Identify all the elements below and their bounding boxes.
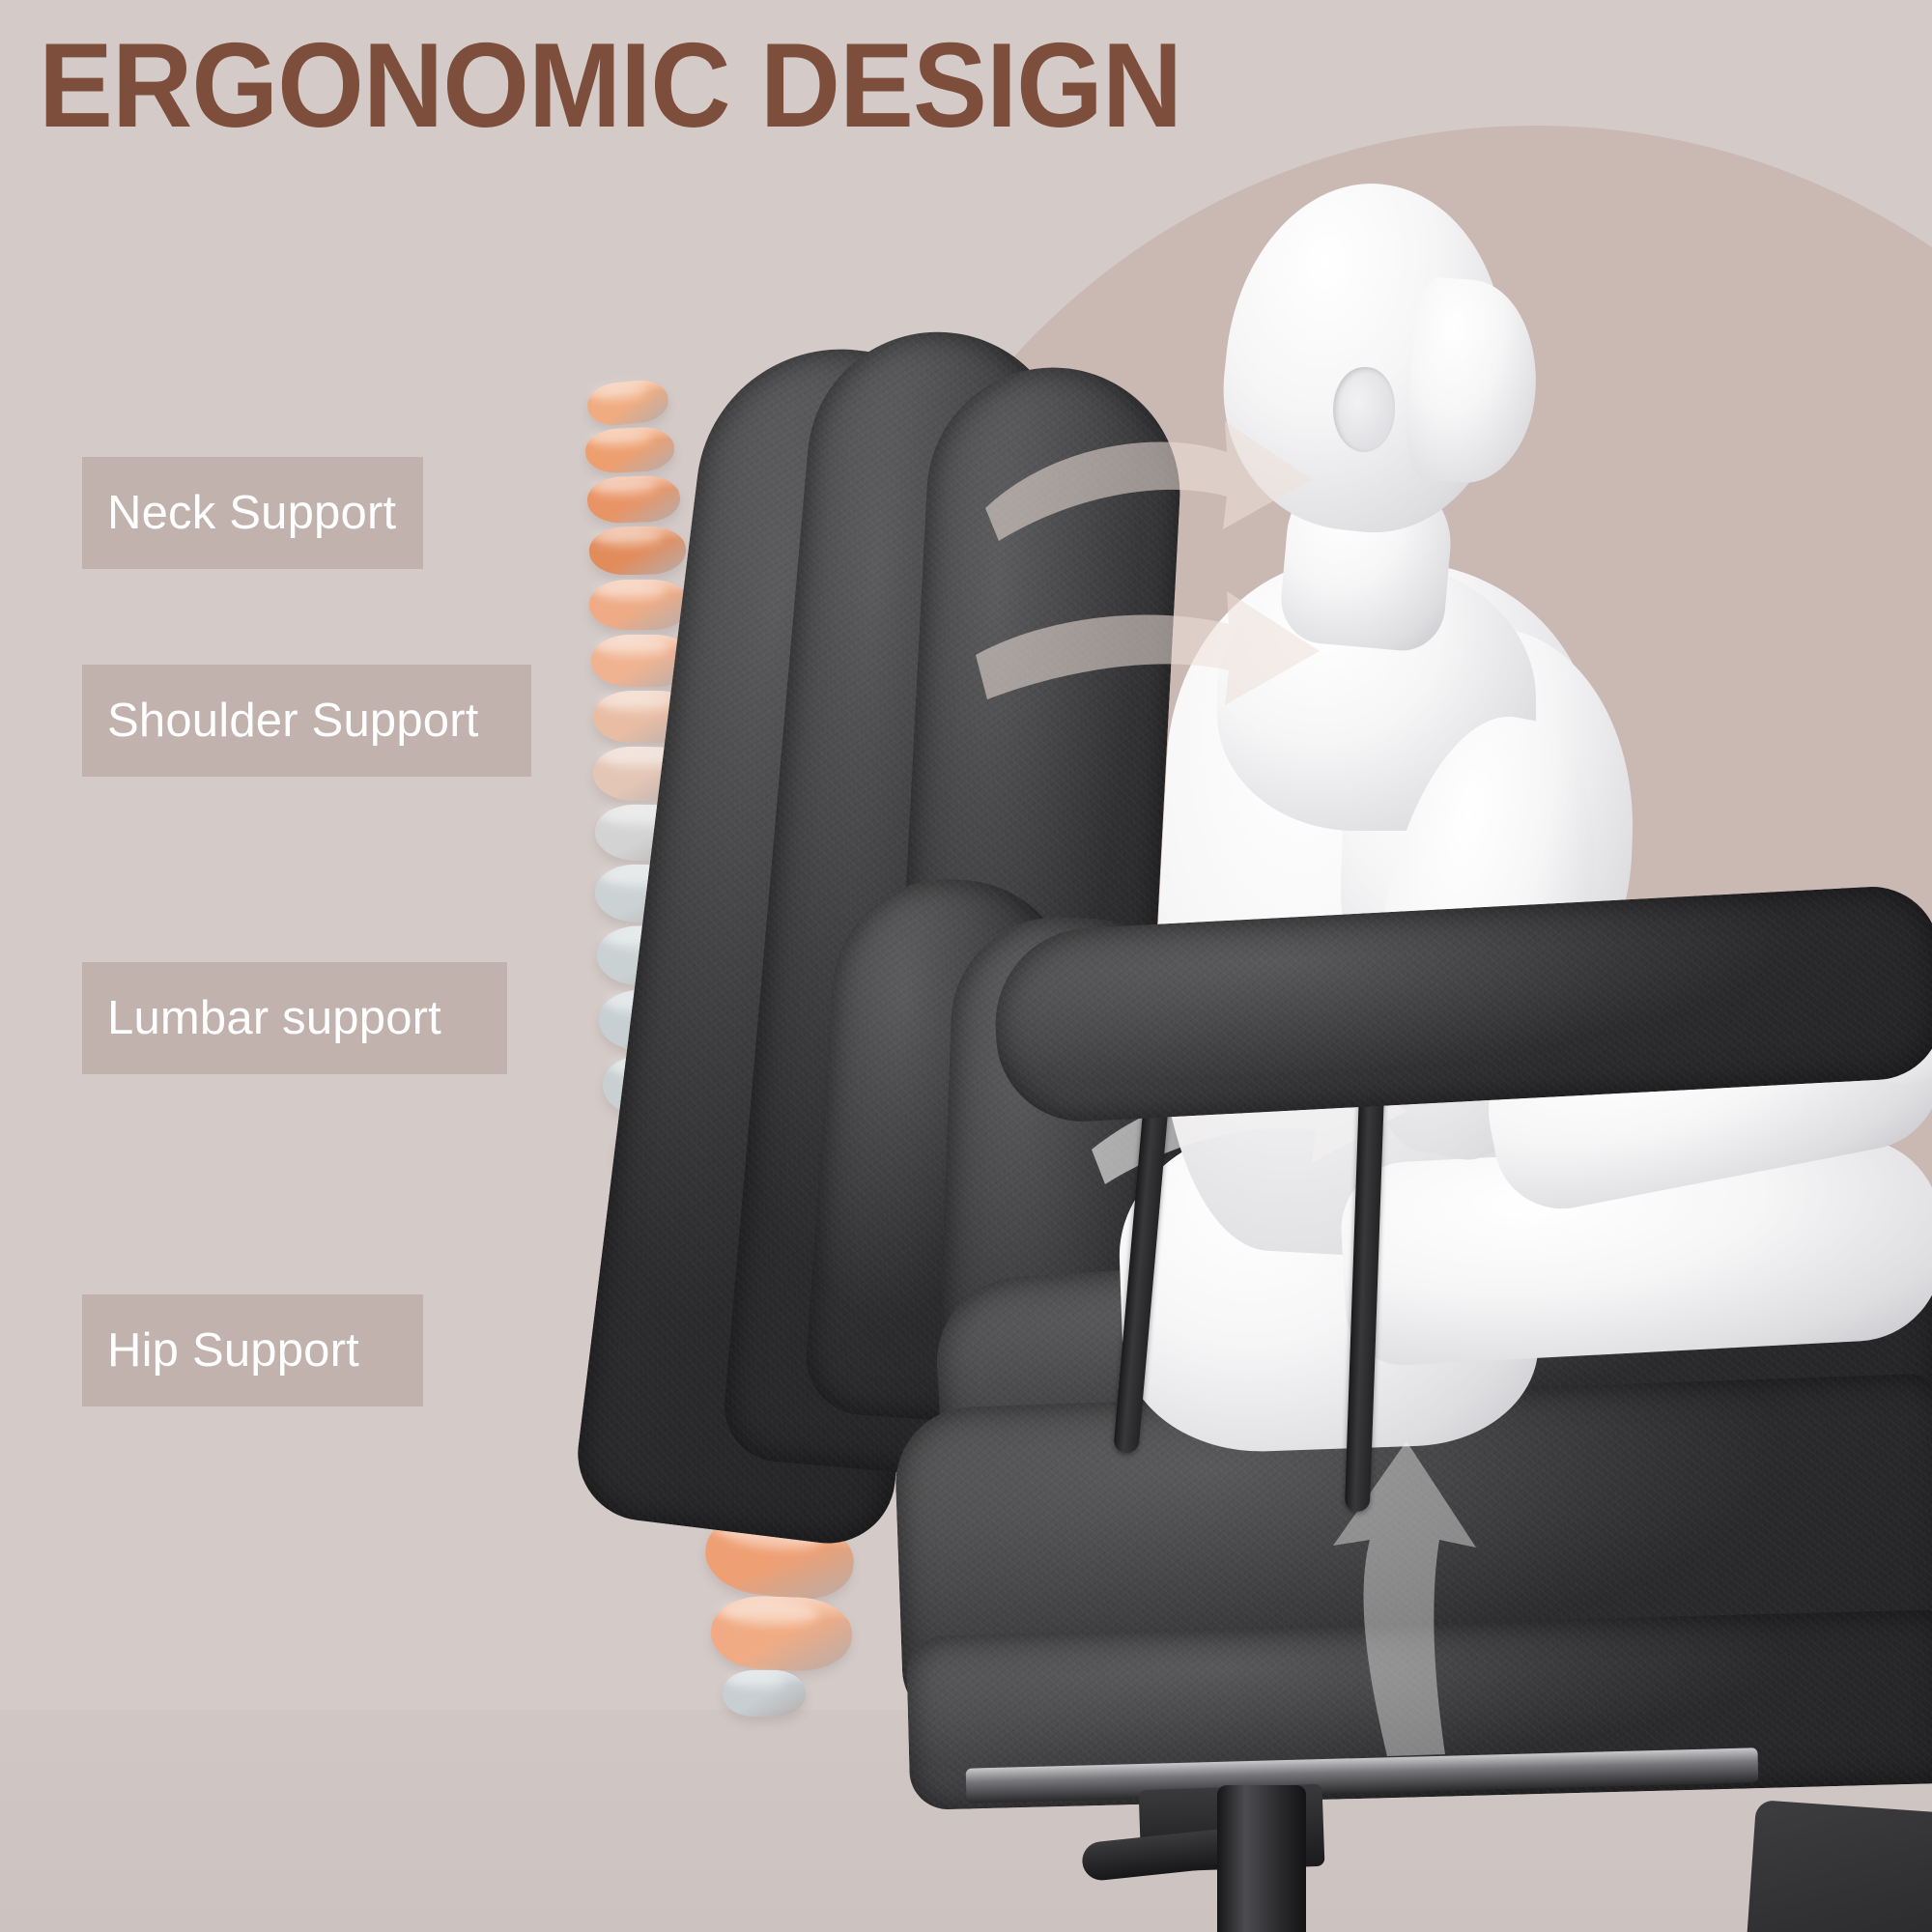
vertebra-3 (586, 474, 681, 524)
vertebra-5 (589, 580, 690, 630)
hip-arrow-icon (1294, 1439, 1517, 1758)
chair-footrest (1741, 1800, 1932, 1932)
mannequin-ear (1333, 367, 1395, 452)
chair-gas-cylinder (1217, 1785, 1306, 1932)
shoulder-arrow-icon (976, 580, 1323, 734)
neck-arrow-icon (985, 415, 1314, 560)
label-shoulder-support[interactable]: Shoulder Support (82, 665, 531, 777)
label-neck-support[interactable]: Neck Support (82, 457, 423, 569)
page-title: ERGONOMIC DESIGN (39, 23, 1181, 149)
infographic-canvas: ERGONOMIC DESIGN (0, 0, 1932, 1932)
vertebra-2 (584, 426, 675, 475)
label-hip-support[interactable]: Hip Support (82, 1294, 423, 1406)
mannequin-face (1404, 276, 1543, 488)
vertebra-4 (589, 526, 687, 576)
vertebra-1 (585, 378, 670, 429)
label-lumbar-support[interactable]: Lumbar support (82, 962, 507, 1074)
